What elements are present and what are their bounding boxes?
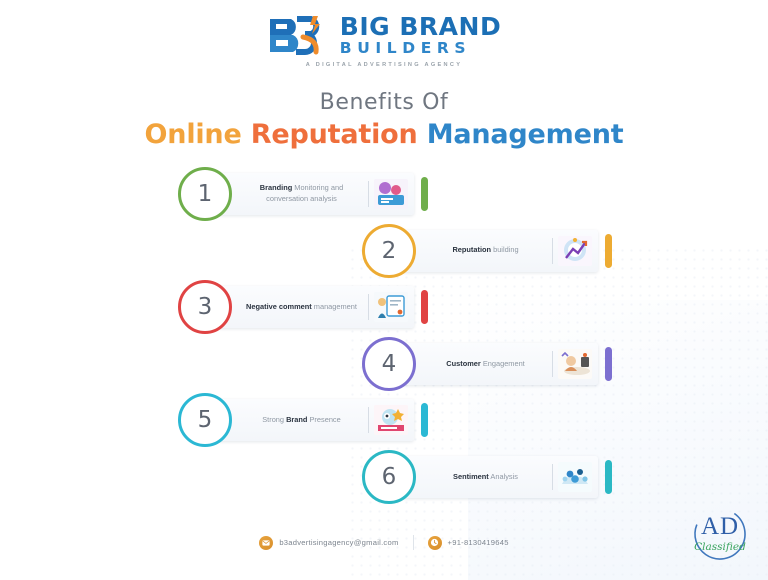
- badge-title: AD: [688, 514, 752, 539]
- benefit-title-2: Reputation: [452, 245, 491, 254]
- accent-bar-3: [421, 290, 428, 324]
- benefit-card-1[interactable]: Branding Monitoring and conversation ana…: [218, 173, 414, 215]
- sentiment-analysis-icon: [558, 462, 592, 492]
- benefit-title-6: Sentiment: [453, 472, 489, 481]
- benefit-row-6[interactable]: 6Sentiment Analysis: [362, 451, 612, 503]
- benefit-text-1: Branding Monitoring and conversation ana…: [244, 183, 363, 204]
- benefit-number-4: 4: [362, 337, 416, 391]
- card-divider: [368, 181, 369, 207]
- benefit-row-2[interactable]: 2Reputation building: [362, 225, 612, 277]
- title-word-online: Online: [145, 119, 242, 150]
- brand-name-line2: BUILDERS: [340, 41, 501, 57]
- benefit-row-4[interactable]: 4Customer Engagement: [362, 338, 612, 390]
- benefit-row-3[interactable]: 3Negative comment management: [178, 281, 428, 333]
- brand-presence-icon: [374, 405, 408, 435]
- accent-bar-2: [605, 234, 612, 268]
- accent-bar-6: [605, 460, 612, 494]
- benefit-card-2[interactable]: Reputation building: [402, 230, 598, 272]
- contact-email[interactable]: b3advertisingagency@gmail.com: [259, 536, 398, 550]
- benefit-card-6[interactable]: Sentiment Analysis: [402, 456, 598, 498]
- benefit-subtitle-5: Presence: [307, 415, 340, 424]
- title-word-reputation: Reputation: [251, 119, 418, 150]
- badge-subtitle: Classified: [688, 541, 752, 553]
- benefits-list: 1Branding Monitoring and conversation an…: [0, 168, 768, 513]
- poster-canvas: BIG BRAND BUILDERS A DIGITAL ADVERTISING…: [0, 0, 768, 576]
- benefit-subtitle-6: Analysis: [489, 472, 518, 481]
- brand-tagline: A DIGITAL ADVERTISING AGENCY: [306, 62, 463, 68]
- benefit-row-5[interactable]: 5Strong Brand Presence: [178, 394, 428, 446]
- b3-logo-icon: [267, 15, 331, 55]
- accent-bar-4: [605, 347, 612, 381]
- benefit-subtitle-4: Engagement: [481, 359, 525, 368]
- ad-classified-badge[interactable]: AD Classified: [688, 504, 752, 564]
- benefit-text-3: Negative comment management: [244, 302, 363, 313]
- benefit-number-3: 3: [178, 280, 232, 334]
- benefit-number-5: 5: [178, 393, 232, 447]
- brand-logo: BIG BRAND BUILDERS A DIGITAL ADVERTISING…: [0, 14, 768, 68]
- contact-phone[interactable]: +91-8130419645: [428, 536, 509, 550]
- comment-management-icon: [374, 292, 408, 322]
- benefit-text-4: Customer Engagement: [428, 359, 547, 370]
- card-divider: [552, 351, 553, 377]
- title-line2: Online Reputation Management: [0, 119, 768, 150]
- benefit-card-4[interactable]: Customer Engagement: [402, 343, 598, 385]
- benefit-number-6: 6: [362, 450, 416, 504]
- title-line1: Benefits Of: [0, 90, 768, 115]
- brand-name-line1: BIG BRAND: [340, 14, 501, 39]
- benefit-title-3: Negative comment: [246, 302, 312, 311]
- benefit-number-1: 1: [178, 167, 232, 221]
- benefit-number-2: 2: [362, 224, 416, 278]
- benefit-card-5[interactable]: Strong Brand Presence: [218, 399, 414, 441]
- benefit-title-5: Brand: [286, 415, 307, 424]
- social-monitoring-icon: [374, 179, 408, 209]
- benefit-row-1[interactable]: 1Branding Monitoring and conversation an…: [178, 168, 428, 220]
- email-icon: [259, 536, 273, 550]
- benefit-text-6: Sentiment Analysis: [428, 472, 547, 483]
- accent-bar-5: [421, 403, 428, 437]
- customer-engagement-icon: [558, 349, 592, 379]
- benefit-card-3[interactable]: Negative comment management: [218, 286, 414, 328]
- phone-clock-icon: [428, 536, 442, 550]
- accent-bar-1: [421, 177, 428, 211]
- card-divider: [368, 407, 369, 433]
- footer-contact: b3advertisingagency@gmail.com +91-813041…: [0, 535, 768, 550]
- title-word-management: Management: [427, 119, 624, 150]
- card-divider: [368, 294, 369, 320]
- benefit-title-4: Customer: [446, 359, 481, 368]
- page-title: Benefits Of Online Reputation Management: [0, 90, 768, 150]
- benefit-subtitle-2: building: [491, 245, 519, 254]
- card-divider: [552, 464, 553, 490]
- card-divider: [552, 238, 553, 264]
- benefit-title-1: Branding: [260, 183, 292, 192]
- benefit-subtitle-3: management: [312, 302, 357, 311]
- benefit-text-2: Reputation building: [428, 245, 547, 256]
- phone-text: +91-8130419645: [448, 538, 509, 547]
- benefit-text-5: Strong Brand Presence: [244, 415, 363, 426]
- footer-divider: [413, 535, 414, 550]
- reputation-growth-icon: [558, 236, 592, 266]
- email-text: b3advertisingagency@gmail.com: [279, 538, 398, 547]
